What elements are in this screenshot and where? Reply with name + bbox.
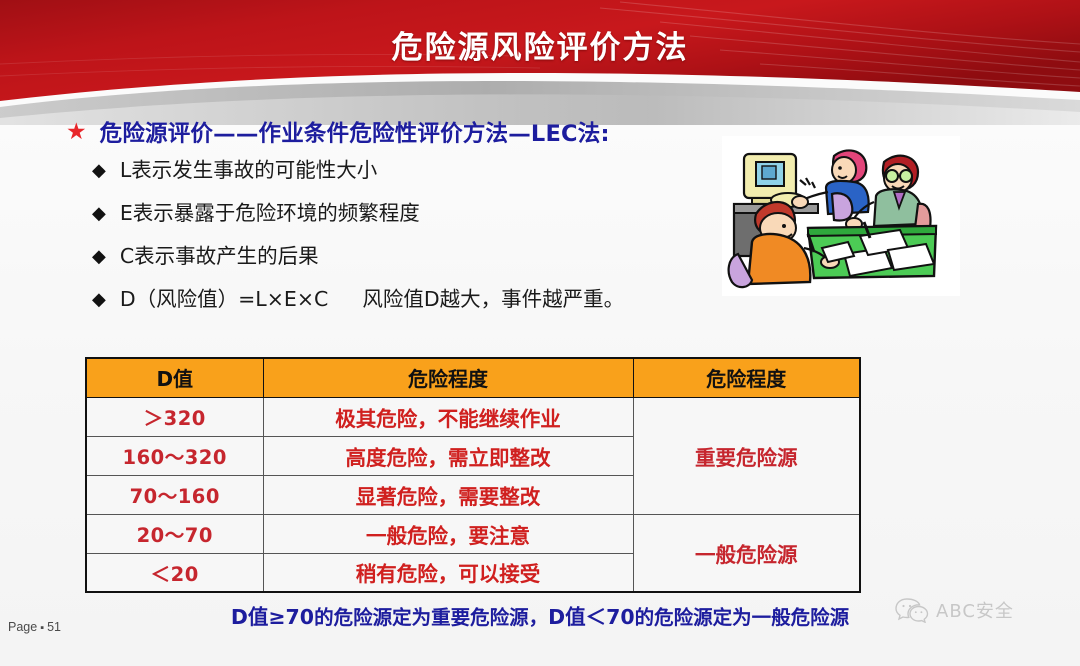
- list-item: ◆ L表示发生事故的可能性大小: [92, 158, 624, 185]
- list-item-label: L表示发生事故的可能性大小: [120, 158, 377, 183]
- list-item: ◆ C表示事故产生的后果: [92, 244, 624, 271]
- risk-table-container: D值 危险程度 危险程度 ＞320 极其危险，不能继续作业 重要危险源 160～…: [85, 357, 859, 593]
- page-label: Page: [8, 620, 37, 634]
- caption-threshold-low: D值＜70: [548, 605, 635, 629]
- wechat-icon: [895, 597, 929, 623]
- formula-text: D（风险值）=L×E×C: [120, 287, 329, 311]
- bullet-list: ◆ L表示发生事故的可能性大小 ◆ E表示暴露于危险环境的频繁程度 ◆ C表示事…: [92, 158, 624, 330]
- diamond-icon: ◆: [92, 201, 106, 226]
- diamond-icon: ◆: [92, 244, 106, 269]
- cell-degree: 显著危险，需要整改: [263, 475, 633, 514]
- watermark: ABC安全: [895, 597, 1014, 623]
- column-header-dvalue: D值: [86, 358, 263, 397]
- risk-evaluation-table: D值 危险程度 危险程度 ＞320 极其危险，不能继续作业 重要危险源 160～…: [85, 357, 861, 593]
- caption-text-2: 的危险源定为一般危险源: [635, 606, 850, 629]
- page-title: 危险源风险评价方法: [0, 22, 1080, 67]
- cell-dvalue: 20～70: [86, 514, 263, 553]
- cell-degree: 极其危险，不能继续作业: [263, 397, 633, 436]
- list-item: ◆ D（风险值）=L×E×C风险值D越大，事件越严重。: [92, 287, 624, 314]
- column-header-source: 危险程度: [633, 358, 860, 397]
- cell-group-general: 一般危险源: [633, 514, 860, 592]
- page-footer: Page▪51: [8, 620, 61, 634]
- cell-degree: 稍有危险，可以接受: [263, 553, 633, 592]
- cell-group-major: 重要危险源: [633, 397, 860, 514]
- list-item-formula: D（风险值）=L×E×C风险值D越大，事件越严重。: [120, 287, 624, 312]
- table-header-row: D值 危险程度 危险程度: [86, 358, 860, 397]
- cell-degree: 一般危险，要注意: [263, 514, 633, 553]
- watermark-text: ABC安全: [936, 597, 1014, 623]
- star-icon: ★: [66, 120, 87, 143]
- office-meeting-illustration-icon: [722, 136, 960, 296]
- cell-degree: 高度危险，需立即整改: [263, 436, 633, 475]
- office-meeting-clipart: [722, 136, 960, 296]
- table-row: 20～70 一般危险，要注意 一般危险源: [86, 514, 860, 553]
- slide-canvas: 危险源风险评价方法 ★ 危险源评价——作业条件危险性评价方法—LEC法: ◆ L…: [0, 0, 1080, 666]
- cell-dvalue: 70～160: [86, 475, 263, 514]
- page-separator-icon: ▪: [40, 622, 44, 634]
- diamond-icon: ◆: [92, 158, 106, 183]
- lead-heading-text: 危险源评价——作业条件危险性评价方法—LEC法:: [100, 116, 610, 148]
- list-item-label: E表示暴露于危险环境的频繁程度: [120, 201, 420, 226]
- caption-threshold-high: D值≥70: [231, 605, 314, 629]
- cell-dvalue: 160～320: [86, 436, 263, 475]
- table-row: ＞320 极其危险，不能继续作业 重要危险源: [86, 397, 860, 436]
- cell-dvalue: ＞320: [86, 397, 263, 436]
- lead-heading: ★ 危险源评价——作业条件危险性评价方法—LEC法:: [66, 116, 610, 148]
- column-header-degree: 危险程度: [263, 358, 633, 397]
- formula-note: 风险值D越大，事件越严重。: [362, 287, 624, 311]
- cell-dvalue: ＜20: [86, 553, 263, 592]
- list-item-label: C表示事故产生的后果: [120, 244, 319, 269]
- list-item: ◆ E表示暴露于危险环境的频繁程度: [92, 201, 624, 228]
- diamond-icon: ◆: [92, 287, 106, 312]
- caption-text-1: 的危险源定为重要危险源，: [314, 606, 548, 629]
- page-number: 51: [47, 620, 61, 634]
